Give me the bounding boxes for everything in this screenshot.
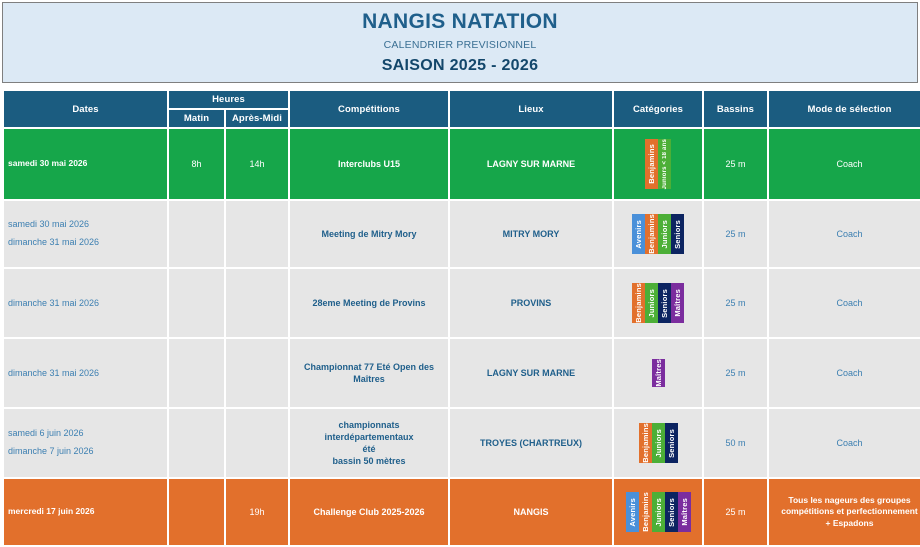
competition-line: championnats interdépartementaux — [294, 419, 444, 443]
cell-categories[interactable]: AvenirsBenjaminsJuniorsSeniorsMaîtres — [614, 479, 702, 545]
cell-categories[interactable]: AvenirsBenjaminsJuniorsSeniors — [614, 201, 702, 267]
cell-mode-selection[interactable]: Coach — [769, 409, 920, 477]
category-label: Seniors — [673, 220, 682, 249]
cell-competition[interactable]: Meeting de Mitry Mory — [290, 201, 448, 267]
category-label: Seniors — [660, 289, 669, 318]
category-chip[interactable]: Benjamins — [632, 283, 645, 323]
col-header-competitions[interactable]: Compétitions — [290, 91, 448, 127]
competition-line: Challenge Club 2025-2026 — [313, 506, 424, 518]
lieu-text: LAGNY SUR MARNE — [450, 365, 612, 381]
date-line: mercredi 17 juin 2026 — [4, 504, 167, 519]
category-chip[interactable]: Benjamins — [639, 492, 652, 532]
cell-competition[interactable]: Interclubs U15 — [290, 129, 448, 199]
competition-line: 28eme Meeting de Provins — [312, 297, 425, 309]
bassin-value: 25 m — [704, 504, 767, 520]
competition-line: Interclubs U15 — [338, 158, 400, 170]
category-label: Maîtres — [680, 498, 689, 526]
apres-midi-value — [226, 235, 288, 239]
apres-midi-value — [226, 301, 288, 305]
calendar-page: NANGIS NATATION CALENDRIER PREVISIONNEL … — [0, 0, 920, 547]
col-header-bassins[interactable]: Bassins — [704, 91, 767, 127]
cell-matin[interactable] — [169, 479, 224, 545]
lieu-text: MITRY MORY — [450, 226, 612, 242]
page-title: NANGIS NATATION — [362, 10, 558, 34]
competition-line: été — [294, 443, 444, 455]
category-chip[interactable]: Maîtres — [671, 283, 684, 323]
cell-lieu[interactable]: PROVINS — [450, 269, 612, 337]
table-row[interactable]: dimanche 31 mai 202628eme Meeting de Pro… — [4, 269, 920, 337]
col-header-heures[interactable]: Heures — [169, 91, 288, 108]
season-label: SAISON 2025 - 2026 — [382, 57, 539, 75]
mode-text: Coach — [769, 365, 920, 381]
calendar-table: Dates Heures Compétitions Lieux Catégori… — [2, 89, 920, 547]
cell-apres-midi[interactable] — [226, 269, 288, 337]
category-label: Benjamins — [647, 214, 656, 254]
cell-categories[interactable]: BenjaminsJuniors < 18 ans — [614, 129, 702, 199]
cell-mode-selection[interactable]: Coach — [769, 201, 920, 267]
category-label: Juniors < 18 ans — [662, 139, 668, 189]
category-label: Maîtres — [654, 359, 663, 387]
mode-line: Coach — [836, 297, 862, 309]
cell-lieu[interactable]: TROYES (CHARTREUX) — [450, 409, 612, 477]
cell-mode-selection[interactable]: Tous les nageurs des groupescompétitions… — [769, 479, 920, 545]
mode-line: Coach — [836, 367, 862, 379]
cell-matin[interactable] — [169, 339, 224, 407]
table-row[interactable]: samedi 30 mai 20268h14hInterclubs U15LAG… — [4, 129, 920, 199]
cell-lieu[interactable]: LAGNY SUR MARNE — [450, 129, 612, 199]
cell-dates[interactable]: dimanche 31 mai 2026 — [4, 269, 167, 337]
cell-matin[interactable] — [169, 201, 224, 267]
competition-line: Meeting de Mitry Mory — [321, 228, 416, 240]
mode-line: compétitions et perfectionnement — [781, 506, 918, 517]
cell-bassin[interactable]: 25 m — [704, 201, 767, 267]
col-header-lieux[interactable]: Lieux — [450, 91, 612, 127]
lieu-text: NANGIS — [450, 504, 612, 520]
cell-competition[interactable]: Championnat 77 Eté Open desMaîtres — [290, 339, 448, 407]
competition-text: championnats interdépartementauxétébassi… — [290, 417, 448, 470]
cell-categories[interactable]: BenjaminsJuniorsSeniors — [614, 409, 702, 477]
category-chip[interactable]: Benjamins — [645, 139, 658, 189]
competition-text: Meeting de Mitry Mory — [290, 226, 448, 242]
category-strip: AvenirsBenjaminsJuniorsSeniorsMaîtres — [614, 490, 702, 534]
table-body: samedi 30 mai 20268h14hInterclubs U15LAG… — [4, 129, 920, 545]
date-line: dimanche 7 juin 2026 — [4, 444, 167, 460]
mode-text: Coach — [769, 435, 920, 451]
competition-text: Championnat 77 Eté Open desMaîtres — [290, 359, 448, 387]
date-line: dimanche 31 mai 2026 — [4, 365, 167, 381]
category-label: Avenirs — [634, 220, 643, 249]
category-chip[interactable]: Seniors — [665, 492, 678, 532]
category-label: Avenirs — [628, 498, 637, 527]
category-chip[interactable]: Benjamins — [645, 214, 658, 254]
competition-text: Challenge Club 2025-2026 — [290, 504, 448, 520]
category-label: Juniors — [654, 498, 663, 527]
table-header: Dates Heures Compétitions Lieux Catégori… — [4, 91, 920, 127]
cell-dates[interactable]: samedi 30 mai 2026dimanche 31 mai 2026 — [4, 201, 167, 267]
cell-bassin[interactable]: 25 m — [704, 129, 767, 199]
cell-categories[interactable]: BenjaminsJuniorsSeniorsMaîtres — [614, 269, 702, 337]
competition-text: 28eme Meeting de Provins — [290, 295, 448, 311]
category-chip[interactable]: Juniors — [652, 423, 665, 463]
category-chip[interactable]: Juniors < 18 ans — [658, 139, 671, 189]
cell-apres-midi[interactable] — [226, 201, 288, 267]
mode-line: Coach — [836, 158, 862, 170]
bassin-value: 25 m — [704, 156, 767, 172]
matin-value — [169, 301, 224, 305]
cell-lieu[interactable]: LAGNY SUR MARNE — [450, 339, 612, 407]
date-line: samedi 30 mai 2026 — [4, 156, 167, 171]
category-label: Benjamins — [634, 283, 643, 323]
category-label: Juniors — [660, 220, 669, 249]
apres-midi-value — [226, 229, 288, 233]
apres-midi-value: 14h — [226, 156, 288, 172]
col-header-mode[interactable]: Mode de sélection — [769, 91, 920, 127]
mode-text: Coach — [769, 226, 920, 242]
page-subtitle: CALENDRIER PREVISIONNEL — [384, 39, 537, 51]
table-row[interactable]: dimanche 31 mai 2026Championnat 77 Eté O… — [4, 339, 920, 407]
matin-value — [169, 444, 224, 448]
matin-value — [169, 371, 224, 375]
bassin-value: 25 m — [704, 365, 767, 381]
category-strip: AvenirsBenjaminsJuniorsSeniors — [614, 212, 702, 256]
cell-competition[interactable]: Challenge Club 2025-2026 — [290, 479, 448, 545]
category-label: Juniors — [654, 429, 663, 458]
apres-midi-value — [226, 444, 288, 448]
category-chip[interactable]: Maîtres — [678, 492, 691, 532]
date-line: samedi 30 mai 2026 — [4, 217, 167, 233]
competition-line: Championnat 77 Eté Open des — [304, 361, 434, 373]
category-chip[interactable]: Juniors — [645, 283, 658, 323]
apres-midi-value: 19h — [226, 504, 288, 520]
bassin-value: 25 m — [704, 295, 767, 311]
cell-bassin[interactable]: 25 m — [704, 269, 767, 337]
mode-text: Tous les nageurs des groupescompétitions… — [769, 493, 920, 531]
category-label: Maîtres — [673, 289, 682, 317]
cell-apres-midi[interactable] — [226, 339, 288, 407]
date-line: dimanche 31 mai 2026 — [4, 235, 167, 251]
category-strip: BenjaminsJuniorsSeniorsMaîtres — [614, 281, 702, 325]
category-chip[interactable]: Juniors — [658, 214, 671, 254]
category-chip[interactable]: Seniors — [671, 214, 684, 254]
category-chip[interactable]: Maîtres — [652, 359, 665, 387]
cell-dates[interactable]: samedi 30 mai 2026 — [4, 129, 167, 199]
title-banner: NANGIS NATATION CALENDRIER PREVISIONNEL … — [2, 2, 918, 83]
cell-matin[interactable] — [169, 409, 224, 477]
category-label: Benjamins — [647, 144, 656, 184]
cell-mode-selection[interactable]: Coach — [769, 129, 920, 199]
category-label: Seniors — [667, 429, 676, 458]
category-chip[interactable]: Benjamins — [639, 423, 652, 463]
matin-value: 8h — [169, 156, 224, 172]
cell-matin[interactable] — [169, 269, 224, 337]
cell-dates[interactable]: dimanche 31 mai 2026 — [4, 339, 167, 407]
matin-value — [169, 438, 224, 442]
col-header-categories[interactable]: Catégories — [614, 91, 702, 127]
table-row[interactable]: samedi 6 juin 2026dimanche 7 juin 2026ch… — [4, 409, 920, 477]
apres-midi-value — [226, 438, 288, 442]
bassin-value: 50 m — [704, 435, 767, 451]
mode-text: Coach — [769, 156, 920, 172]
cell-categories[interactable]: Maîtres — [614, 339, 702, 407]
mode-line: Coach — [836, 228, 862, 240]
category-chip[interactable]: Seniors — [658, 283, 671, 323]
category-strip: BenjaminsJuniors < 18 ans — [614, 137, 702, 191]
col-header-dates[interactable]: Dates — [4, 91, 167, 127]
cell-competition[interactable]: 28eme Meeting de Provins — [290, 269, 448, 337]
col-header-apres-midi[interactable]: Après-Midi — [226, 110, 288, 127]
cell-mode-selection[interactable]: Coach — [769, 339, 920, 407]
table-row[interactable]: mercredi 17 juin 202619hChallenge Club 2… — [4, 479, 920, 545]
category-chip[interactable]: Avenirs — [632, 214, 645, 254]
competition-line: Maîtres — [304, 373, 434, 385]
lieu-text: LAGNY SUR MARNE — [450, 156, 612, 172]
cell-lieu[interactable]: MITRY MORY — [450, 201, 612, 267]
category-strip: BenjaminsJuniorsSeniors — [614, 421, 702, 465]
category-label: Benjamins — [641, 423, 650, 463]
cell-bassin[interactable]: 25 m — [704, 339, 767, 407]
category-label: Juniors — [647, 289, 656, 318]
competition-text: Interclubs U15 — [290, 156, 448, 172]
table-row[interactable]: samedi 30 mai 2026dimanche 31 mai 2026Me… — [4, 201, 920, 267]
cell-matin[interactable]: 8h — [169, 129, 224, 199]
apres-midi-value — [226, 371, 288, 375]
category-chip[interactable]: Juniors — [652, 492, 665, 532]
category-strip: Maîtres — [614, 357, 702, 389]
mode-text: Coach — [769, 295, 920, 311]
matin-value — [169, 507, 224, 511]
bassin-value: 25 m — [704, 226, 767, 242]
mode-line: + Espadons — [781, 518, 918, 529]
matin-value — [169, 229, 224, 233]
cell-bassin[interactable]: 25 m — [704, 479, 767, 545]
category-label: Seniors — [667, 498, 676, 527]
category-chip[interactable]: Seniors — [665, 423, 678, 463]
matin-value — [169, 513, 224, 517]
cell-mode-selection[interactable]: Coach — [769, 269, 920, 337]
mode-line: Coach — [836, 437, 862, 449]
cell-dates[interactable]: mercredi 17 juin 2026 — [4, 479, 167, 545]
category-label: Benjamins — [641, 492, 650, 532]
cell-apres-midi[interactable]: 19h — [226, 479, 288, 545]
cell-lieu[interactable]: NANGIS — [450, 479, 612, 545]
cell-bassin[interactable]: 50 m — [704, 409, 767, 477]
category-chip[interactable]: Avenirs — [626, 492, 639, 532]
date-line: samedi 6 juin 2026 — [4, 426, 167, 442]
cell-apres-midi[interactable] — [226, 409, 288, 477]
matin-value — [169, 235, 224, 239]
cell-dates[interactable]: samedi 6 juin 2026dimanche 7 juin 2026 — [4, 409, 167, 477]
col-header-matin[interactable]: Matin — [169, 110, 224, 127]
cell-apres-midi[interactable]: 14h — [226, 129, 288, 199]
mode-line: Tous les nageurs des groupes — [781, 495, 918, 506]
competition-line: bassin 50 mètres — [294, 455, 444, 467]
header-row-1: Dates Heures Compétitions Lieux Catégori… — [4, 91, 920, 108]
cell-competition[interactable]: championnats interdépartementauxétébassi… — [290, 409, 448, 477]
lieu-text: TROYES (CHARTREUX) — [450, 435, 612, 451]
lieu-text: PROVINS — [450, 295, 612, 311]
date-line: dimanche 31 mai 2026 — [4, 295, 167, 311]
